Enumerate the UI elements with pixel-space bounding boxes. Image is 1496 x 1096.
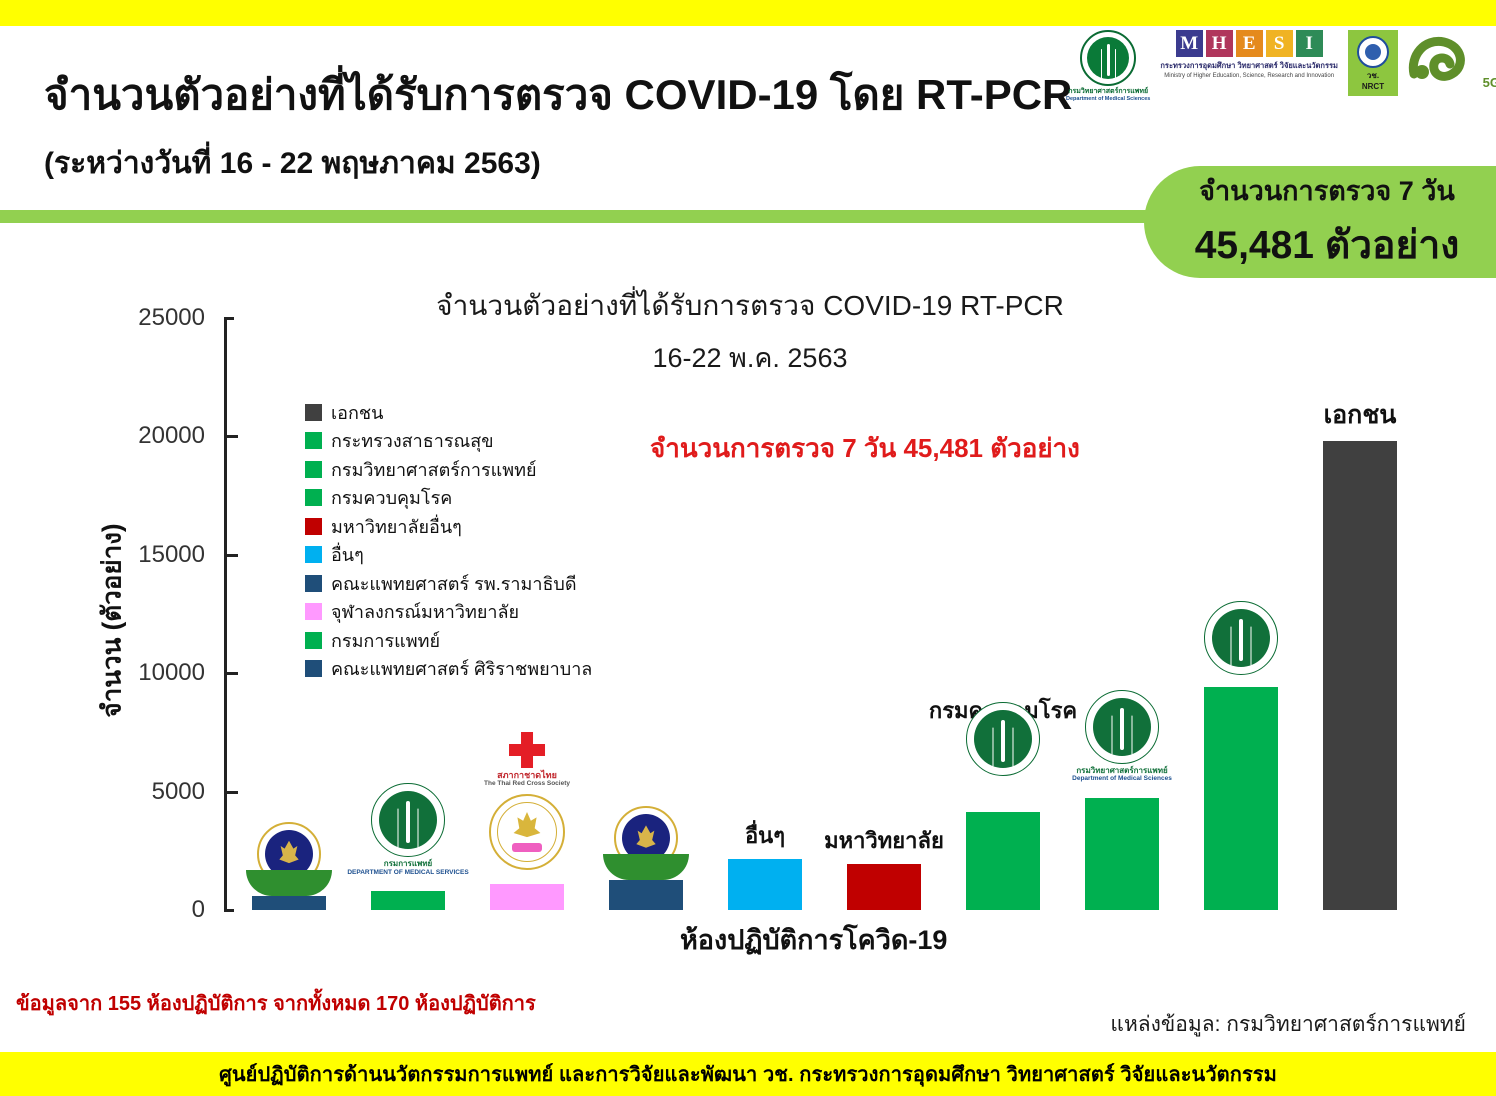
bar[interactable]: [1204, 687, 1278, 910]
chart-plot-area: จำนวน (ตัวอย่าง) 05000100001500020000250…: [0, 0, 1496, 1096]
green-ribbon-icon: [246, 870, 332, 896]
bar-group[interactable]: กรมวิทยาศาสตร์การแพทย์Department of Medi…: [1085, 798, 1159, 910]
footer-text: ศูนย์ปฏิบัติการด้านนวัตกรรมการแพทย์ และก…: [219, 1058, 1277, 1090]
bar[interactable]: [847, 864, 921, 910]
bar-group[interactable]: สภากาชาดไทยThe Thai Red Cross Society: [490, 884, 564, 910]
bar[interactable]: [490, 884, 564, 910]
chulalongkorn-seal-icon: สภากาชาดไทยThe Thai Red Cross Society: [489, 794, 565, 870]
caduceus-seal-icon: [1204, 601, 1278, 675]
footnote-lab-count: ข้อมูลจาก 155 ห้องปฏิบัติการ จากทั้งหมด …: [16, 987, 536, 1019]
red-cross-icon: [509, 732, 545, 768]
bar-value-label: อื่นๆ: [745, 818, 785, 853]
bar-group[interactable]: อื่นๆ: [728, 859, 802, 910]
bottom-yellow-band: ศูนย์ปฏิบัติการด้านนวัตกรรมการแพทย์ และก…: [0, 1052, 1496, 1096]
red-cross-caption: สภากาชาดไทยThe Thai Red Cross Society: [484, 770, 570, 788]
red-cross-logo: สภากาชาดไทยThe Thai Red Cross Society: [484, 732, 570, 788]
emblem-caption: กรมการแพทย์DEPARTMENT OF MEDICAL SERVICE…: [347, 859, 468, 876]
bar-group[interactable]: เอกชน: [1323, 441, 1397, 910]
bar[interactable]: [1323, 441, 1397, 910]
bar[interactable]: [728, 859, 802, 910]
emblem-caption: กรมวิทยาศาสตร์การแพทย์Department of Medi…: [1072, 766, 1172, 783]
bar[interactable]: [609, 880, 683, 910]
bar[interactable]: [1085, 798, 1159, 910]
university-seal-icon: [614, 806, 678, 870]
x-axis-label: ห้องปฏิบัติการโควิด-19: [680, 918, 947, 961]
moph-seal-icon: กรมวิทยาศาสตร์การแพทย์Department of Medi…: [1085, 690, 1159, 764]
gold-seal-icon: [489, 794, 565, 870]
university-seal-icon: [257, 822, 321, 886]
bar-group[interactable]: กรมการแพทย์DEPARTMENT OF MEDICAL SERVICE…: [371, 891, 445, 910]
caduceus-seal-icon: [371, 783, 445, 857]
moph-seal-icon: [966, 702, 1040, 776]
moph-seal-icon: [1204, 601, 1278, 675]
bar-value-label: เอกชน: [1324, 395, 1397, 435]
bar-group[interactable]: [609, 880, 683, 910]
bar-value-label: มหาวิทยาลัย: [824, 823, 944, 858]
footnote-source: แหล่งข้อมูล: กรมวิทยาศาสตร์การแพทย์: [1110, 1008, 1466, 1041]
bar[interactable]: [966, 812, 1040, 910]
bar-group[interactable]: [1204, 687, 1278, 910]
bar[interactable]: [252, 896, 326, 910]
caduceus-seal-icon: [966, 702, 1040, 776]
bar[interactable]: [371, 891, 445, 910]
caduceus-seal-icon: [1085, 690, 1159, 764]
slide-canvas: จำนวนตัวอย่างที่ได้รับการตรวจ COVID-19 โ…: [0, 0, 1496, 1096]
bar-group[interactable]: [252, 896, 326, 910]
moph-seal-icon: กรมการแพทย์DEPARTMENT OF MEDICAL SERVICE…: [371, 783, 445, 857]
green-ribbon-icon: [603, 854, 689, 880]
bar-group[interactable]: กรมควบคุมโรค: [966, 812, 1040, 910]
bar-group[interactable]: มหาวิทยาลัย: [847, 864, 921, 910]
